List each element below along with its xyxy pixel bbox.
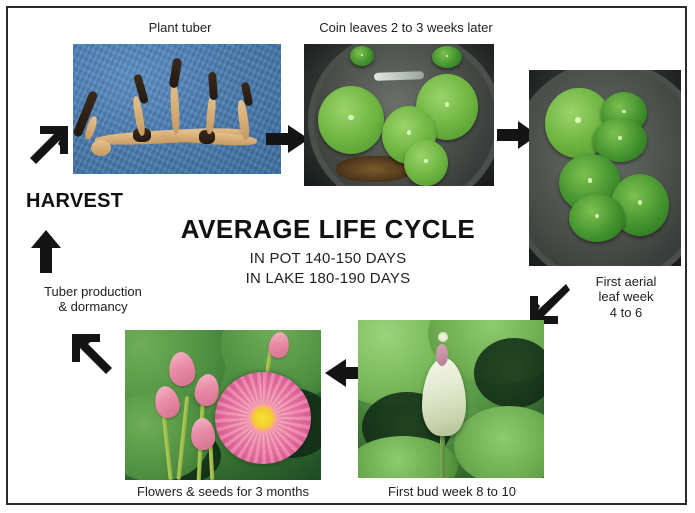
photo-first-aerial-leaf — [529, 70, 681, 266]
subtitle-in-lake: IN LAKE 180-190 DAYS — [178, 269, 478, 289]
label-first-aerial-leaf: First aerial leaf week 4 to 6 — [572, 274, 680, 320]
label-coin-leaves: Coin leaves 2 to 3 weeks later — [291, 20, 521, 35]
arrow-harvest-to-plant-icon — [28, 124, 72, 168]
harvest-label: HARVEST — [26, 190, 123, 213]
photo-first-bud — [358, 320, 544, 478]
label-tuber-production: Tuber production & dormancy — [20, 284, 166, 315]
label-plant-tuber: Plant tuber — [80, 20, 280, 35]
label-flowers-seeds: Flowers & seeds for 3 months — [113, 484, 333, 499]
subtitle-in-pot: IN POT 140-150 DAYS — [178, 249, 478, 269]
title-block: AVERAGE LIFE CYCLE IN POT 140-150 DAYS I… — [178, 216, 478, 288]
page-title: AVERAGE LIFE CYCLE — [178, 216, 478, 243]
arrow-dormancy-to-harvest-icon — [30, 230, 62, 274]
photo-plant-tuber — [73, 44, 281, 174]
arrow-flower-to-tuber-production-icon — [68, 330, 116, 378]
label-first-bud: First bud week 8 to 10 — [358, 484, 546, 499]
diagram-frame: Plant tuber Coin leaves 2 to 3 weeks lat… — [6, 6, 687, 505]
photo-flowers-seeds — [125, 330, 321, 480]
photo-coin-leaves — [304, 44, 494, 186]
